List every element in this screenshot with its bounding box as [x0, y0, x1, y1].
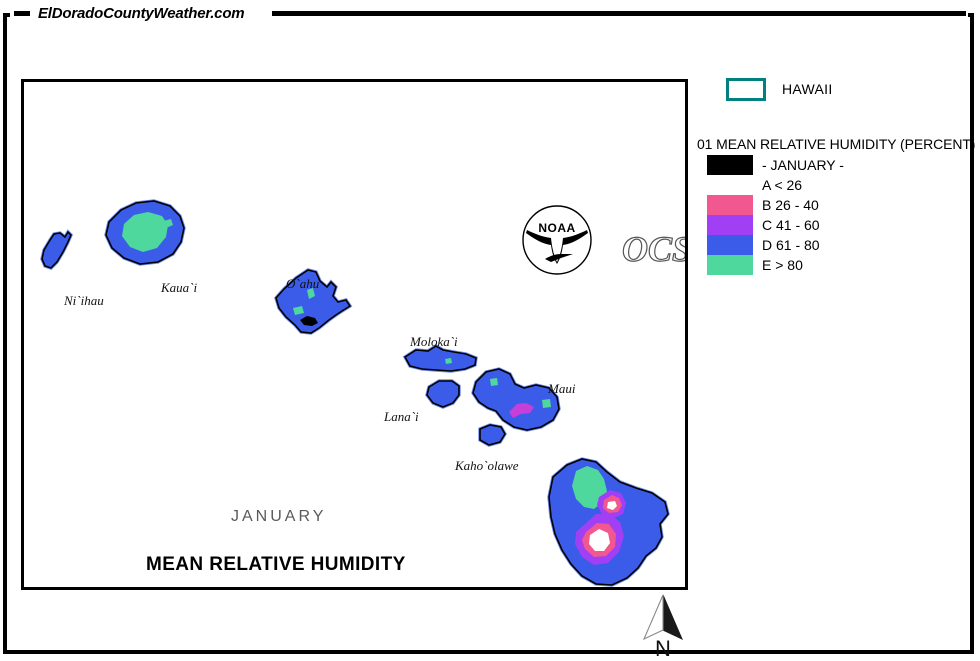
- north-arrow-label: N: [655, 636, 671, 658]
- legend-label-class-b: B 26 - 40: [762, 197, 819, 213]
- legend-label-class-a: A < 26: [762, 177, 802, 193]
- hawaii-islands-map: .coast { stroke:#000; stroke-width:1.6; …: [24, 82, 685, 587]
- legend-row-class-e: E > 80: [697, 255, 980, 275]
- legend-label-class-e: E > 80: [762, 257, 803, 273]
- legend-row-class-a: A < 26: [697, 175, 980, 195]
- legend-title: 01 MEAN RELATIVE HUMIDITY (PERCENT): [697, 136, 980, 152]
- legend-swatch-class-e: [707, 255, 753, 275]
- north-arrow-icon: N: [638, 592, 688, 658]
- map-frame[interactable]: .coast { stroke:#000; stroke-width:1.6; …: [21, 79, 688, 590]
- legend-label-class-c: C 41 - 60: [762, 217, 820, 233]
- site-title: ElDoradoCountyWeather.com: [30, 4, 252, 24]
- island-label-kauai: Kaua`i: [161, 280, 197, 296]
- island-label-molokai: Moloka`i: [410, 334, 458, 350]
- legend-row-class-d: D 61 - 80: [697, 235, 980, 255]
- map-month-caption: JANUARY: [231, 508, 326, 526]
- legend-swatch-class-c: [707, 215, 753, 235]
- island-hawaii: [549, 459, 668, 585]
- island-lanai: [427, 381, 459, 407]
- island-label-niihau: Ni`ihau: [64, 293, 104, 309]
- island-maui: [473, 369, 559, 430]
- map-title-caption: MEAN RELATIVE HUMIDITY: [146, 554, 406, 576]
- noaa-logo-icon: NOAA: [521, 204, 593, 276]
- noaa-wordmark: NOAA: [538, 221, 575, 235]
- island-label-kahoolawe: Kaho`olawe: [455, 458, 519, 474]
- island-label-oahu: O`ahu: [286, 276, 319, 292]
- island-kahoolawe: [480, 425, 505, 445]
- legend-swatch-class-b: [707, 195, 753, 215]
- legend-swatch-class-d: [707, 235, 753, 255]
- legend-region-swatch: [726, 78, 766, 101]
- banner-dash-right: [272, 11, 966, 16]
- legend-label-january: - JANUARY -: [762, 157, 844, 173]
- legend-row-january: - JANUARY -: [697, 155, 980, 175]
- legend-row-class-c: C 41 - 60: [697, 215, 980, 235]
- legend-row-class-b: B 26 - 40: [697, 195, 980, 215]
- legend-class-list: - JANUARY - A < 26 B 26 - 40 C 41 - 60 D…: [697, 155, 980, 275]
- ocs-logo-icon: OCS: [611, 225, 688, 273]
- legend-swatch-january: [707, 155, 753, 175]
- legend-region-label: HAWAII: [782, 81, 833, 97]
- legend-label-class-d: D 61 - 80: [762, 237, 820, 253]
- island-label-lanai: Lana`i: [384, 409, 419, 425]
- legend-panel: HAWAII 01 MEAN RELATIVE HUMIDITY (PERCEN…: [697, 76, 980, 275]
- island-label-maui: Maui: [548, 381, 575, 397]
- island-niihau: [42, 232, 71, 268]
- legend-region-row: HAWAII: [726, 76, 980, 102]
- ocs-wordmark: OCS: [622, 229, 688, 269]
- legend-swatch-class-a: [707, 175, 753, 195]
- island-kauai: [106, 201, 184, 264]
